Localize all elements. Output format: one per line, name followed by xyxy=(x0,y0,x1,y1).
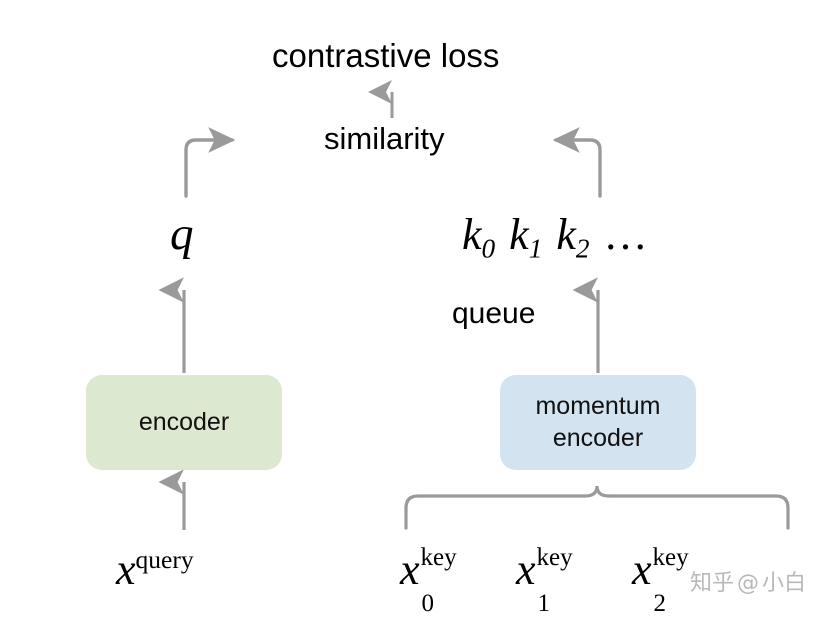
x-key-0-base: x xyxy=(400,545,420,594)
x-key-1-superscript: key xyxy=(537,544,573,572)
connector-layer xyxy=(0,0,826,634)
x-key-2-superscript: key xyxy=(653,544,689,572)
x-key-2-base: x xyxy=(632,545,652,594)
x-key-0-subscript: 0 xyxy=(422,590,435,618)
key-sub-1: 1 xyxy=(529,234,543,264)
encoder-box[interactable]: encoder xyxy=(86,375,282,470)
input-x-query: xquery xyxy=(116,545,194,594)
key-sub-2: 2 xyxy=(576,234,590,264)
key-symbol-1: k1 xyxy=(509,210,542,259)
queue-label: queue xyxy=(452,297,535,331)
key-base-0: k xyxy=(462,210,482,259)
key-symbols-row: k0k1k2… xyxy=(462,210,650,264)
key-base-1: k xyxy=(509,210,529,259)
key-base-2: k xyxy=(556,210,576,259)
similarity-label: similarity xyxy=(324,122,445,157)
input-x-key-2: xkey2 xyxy=(632,545,652,594)
momentum-encoder-box[interactable]: momentum encoder xyxy=(500,375,696,470)
key-symbol-0: k0 xyxy=(462,210,495,259)
encoder-box-label: encoder xyxy=(139,408,229,437)
input-x-key-1: xkey1 xyxy=(516,545,536,594)
x-key-1-base: x xyxy=(516,545,536,594)
contrastive-loss-label: contrastive loss xyxy=(272,38,499,75)
query-symbol: q xyxy=(170,208,194,261)
moco-architecture-diagram: contrastive loss similarity queue q k0k1… xyxy=(0,0,826,634)
x-query-superscript: query xyxy=(136,545,194,574)
key-ellipsis: … xyxy=(604,210,650,259)
key-sub-0: 0 xyxy=(482,234,496,264)
x-key-1-subscript: 1 xyxy=(538,590,551,618)
arrow-q-to-similarity xyxy=(186,140,232,196)
input-x-key-0: xkey0 xyxy=(400,545,420,594)
momentum-encoder-line1: momentum xyxy=(535,392,660,420)
watermark-site: 知乎 xyxy=(690,571,734,596)
watermark-at: @ xyxy=(737,571,759,596)
x-key-2-subscript: 2 xyxy=(654,590,667,618)
momentum-encoder-line2: encoder xyxy=(553,424,643,452)
momentum-encoder-box-label: momentum encoder xyxy=(535,391,660,454)
x-key-0-superscript: key xyxy=(421,544,457,572)
x-query-base: x xyxy=(116,545,136,594)
zhihu-watermark: 知乎@小白 xyxy=(690,565,806,597)
arrow-keys-to-similarity xyxy=(556,140,600,196)
brace-key-inputs xyxy=(406,486,788,528)
key-symbol-2: k2 xyxy=(556,210,589,259)
watermark-user: 小白 xyxy=(762,571,806,596)
